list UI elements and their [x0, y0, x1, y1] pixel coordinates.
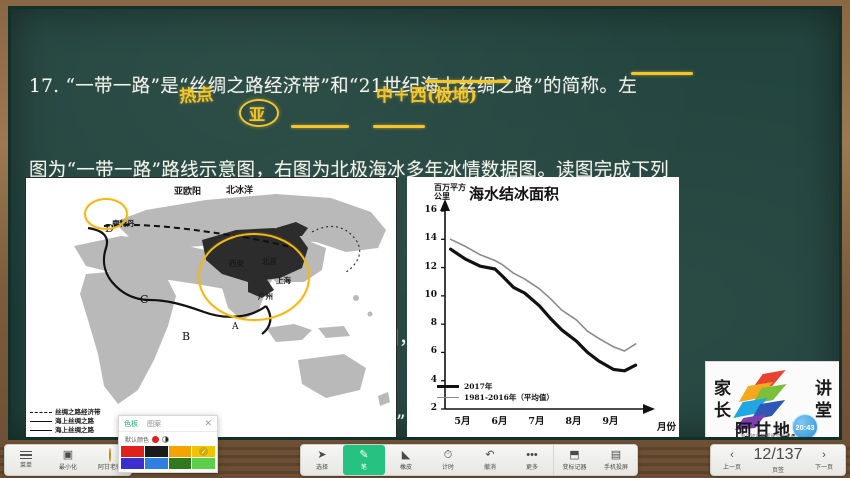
- brand-logo: 家 长 讲 堂 阿甘地理 专注初中地理课堂与素养提升 20:43: [705, 361, 841, 440]
- toolbar-item-label: 笔: [361, 462, 367, 471]
- blackboard: 17. “一带一路”是“丝绸之路经济带”和“21世纪海上丝绸之路”的简称。左 图…: [8, 6, 842, 440]
- color-swatch[interactable]: [121, 446, 144, 457]
- close-icon[interactable]: ✕: [204, 418, 212, 429]
- toolbar-item-eraser[interactable]: ◣橡皮: [385, 445, 427, 475]
- color-dot-red-icon[interactable]: [152, 436, 159, 443]
- thin-line-icon: [437, 397, 459, 398]
- cast-icon: ▤: [611, 450, 621, 461]
- color-dot-half-icon[interactable]: [162, 436, 169, 443]
- map-label-arctic-ocean: 北冰洋: [226, 183, 253, 196]
- map-legend-item: 海上丝绸之路: [30, 417, 101, 426]
- map-legend-item: 丝绸之路经济带: [30, 408, 101, 417]
- palette-swatch-grid[interactable]: [119, 446, 217, 472]
- minimize-icon: ▣: [63, 450, 73, 461]
- chart-legend-item: 1981-2016年（平均值）: [437, 392, 554, 403]
- menu-icon: [20, 451, 32, 460]
- pen-icon: ✎: [359, 450, 368, 461]
- prev-page-label: 上一页: [723, 462, 741, 471]
- toolbar-item-more[interactable]: •••更多: [511, 445, 553, 475]
- dashed-line-icon: [30, 412, 52, 413]
- chart-ytick: 14: [415, 233, 437, 243]
- chart-series-line: [451, 249, 636, 371]
- solid-line-icon: [30, 430, 52, 431]
- screen-root: 17. “一带一路”是“丝绸之路经济带”和“21世纪海上丝绸之路”的简称。左 图…: [0, 0, 850, 478]
- map-legend-label: 海上丝绸之路: [55, 426, 94, 435]
- question-line-1: 17. “一带一路”是“丝绸之路经济带”和“21世纪海上丝绸之路”的简称。左: [29, 73, 829, 101]
- palette-tab-patterns[interactable]: 图案: [147, 419, 161, 429]
- logo-char-4: 堂: [815, 396, 832, 421]
- chart-ylabel: 百万平方公里: [434, 183, 468, 201]
- palette-header: 色板 图案 ✕: [119, 416, 217, 432]
- map-figure: 亚欧阳 北冰洋 鹿特丹 西安 北京 上海 广州 D C B A 丝绸之路经济带: [25, 177, 397, 439]
- page-number: 12/137: [754, 446, 803, 464]
- chart-figure: 海水结冰面积 百万平方公里 246810121416 5月6月7月8月9月 月份: [407, 177, 679, 439]
- toolbar-item-marker[interactable]: ⬒变标记器: [553, 445, 595, 475]
- map-legend-item: 海上丝绸之路: [30, 426, 101, 435]
- chart-ytick: 6: [415, 346, 437, 356]
- chart-title: 海水结冰面积: [469, 183, 559, 204]
- solid-line-icon: [30, 421, 52, 422]
- chart-plot-area: 海水结冰面积 百万平方公里 246810121416 5月6月7月8月9月 月份: [407, 177, 679, 439]
- chart-ytick: 8: [415, 318, 437, 328]
- undo-icon: ↶: [485, 450, 494, 461]
- color-swatch[interactable]: [192, 458, 215, 469]
- toolbar-item-label: 菜单: [20, 460, 32, 469]
- chevron-left-icon: ‹: [730, 450, 734, 461]
- chart-xtick: 7月: [528, 413, 544, 427]
- color-swatch[interactable]: [145, 458, 168, 469]
- palette-tab-swatches[interactable]: 色板: [124, 419, 138, 429]
- map-letter-c: C: [140, 293, 148, 306]
- cursor-icon: ➤: [317, 450, 326, 461]
- map-letter-a: A: [232, 322, 239, 332]
- color-swatch[interactable]: [169, 458, 192, 469]
- chart-ytick: 12: [415, 262, 437, 272]
- toolbar-item-label: 选择: [316, 462, 328, 471]
- eraser-icon: ◣: [402, 450, 410, 461]
- chevron-right-icon: ›: [822, 450, 826, 461]
- toolbar-item-label: 手机投屏: [604, 462, 628, 471]
- chart-series-line: [451, 239, 636, 351]
- annotation-underline-econ-circle: [373, 125, 425, 128]
- next-page-label: 下一页: [815, 462, 833, 471]
- toolbar-item-cursor[interactable]: ➤选择: [301, 445, 343, 475]
- chart-legend: 2017年 1981-2016年（平均值）: [437, 381, 554, 403]
- chart-ytick: 16: [415, 205, 437, 215]
- map-label-eurasia: 亚欧阳: [174, 184, 201, 197]
- toolbar-item-cast[interactable]: ▤手机投屏: [595, 445, 637, 475]
- more-icon: •••: [526, 450, 538, 461]
- palette-default-color-label: 默认颜色: [125, 435, 149, 444]
- color-palette-popup[interactable]: 色板 图案 ✕ 默认颜色: [118, 415, 218, 473]
- annotation-underline-data: [631, 72, 693, 75]
- drawing-toolbar[interactable]: ➤选择✎笔◣橡皮⏱计时↶撤消•••更多⬒变标记器▤手机投屏: [300, 444, 638, 476]
- page-sub-label: 页签: [772, 465, 784, 474]
- timer-icon: ⏱: [444, 450, 453, 461]
- toolbar-item-label: 计时: [442, 462, 454, 471]
- next-page-button[interactable]: › 下一页: [803, 445, 845, 475]
- toolbar-item-timer[interactable]: ⏱计时: [427, 445, 469, 475]
- map-highlight-rotterdam: [84, 198, 128, 230]
- palette-default-color-row: 默认颜色: [119, 432, 217, 446]
- chart-ytick: 10: [415, 290, 437, 300]
- toolbar-item-label: 橡皮: [400, 462, 412, 471]
- chart-xtick: 8月: [565, 413, 581, 427]
- logo-char-2: 长: [714, 396, 731, 421]
- toolbar-item-label: 最小化: [59, 462, 77, 471]
- chart-xlabel: 月份: [657, 419, 676, 433]
- chart-legend-label: 1981-2016年（平均值）: [464, 392, 554, 403]
- chart-legend-item: 2017年: [437, 381, 554, 392]
- prev-page-button[interactable]: ‹ 上一页: [711, 445, 753, 475]
- color-swatch[interactable]: [192, 446, 215, 457]
- thick-line-icon: [437, 385, 459, 388]
- map-letter-b: B: [182, 330, 190, 343]
- chart-xtick: 5月: [454, 413, 470, 427]
- marker-icon: ⬒: [569, 450, 579, 461]
- timer-badge: 20:43: [792, 414, 818, 440]
- map-legend-label: 丝绸之路经济带: [55, 408, 101, 417]
- map-legend: 丝绸之路经济带 海上丝绸之路 海上丝绸之路: [30, 408, 101, 435]
- avatar-icon: [109, 450, 111, 461]
- toolbar-item-minimize[interactable]: ▣最小化: [47, 445, 89, 475]
- pager-toolbar[interactable]: ‹ 上一页 12/137 页签 › 下一页: [710, 444, 846, 476]
- color-swatch[interactable]: [121, 458, 144, 469]
- color-swatch[interactable]: [145, 446, 168, 457]
- chart-ytick: 2: [415, 403, 437, 413]
- map-legend-label: 海上丝绸之路: [55, 417, 94, 426]
- annotation-underline-active: [291, 125, 349, 128]
- chart-xtick: 9月: [602, 413, 618, 427]
- toolbar-item-label: 更多: [526, 462, 538, 471]
- page-indicator[interactable]: 12/137 页签: [753, 445, 803, 475]
- annotation-circle: [239, 99, 279, 127]
- world-map-svg: [26, 178, 397, 439]
- chart-legend-label: 2017年: [464, 381, 492, 392]
- toolbar-item-undo[interactable]: ↶撤消: [469, 445, 511, 475]
- toolbar-item-pen[interactable]: ✎笔: [343, 445, 385, 475]
- toolbar-item-label: 撤消: [484, 462, 496, 471]
- toolbar-item-menu[interactable]: 菜单: [5, 445, 47, 475]
- toolbar-item-label: 变标记器: [562, 462, 586, 471]
- annotation-overline: [425, 80, 509, 83]
- chart-ytick: 4: [415, 375, 437, 385]
- chart-xtick: 6月: [491, 413, 507, 427]
- map-highlight-china: [198, 233, 310, 321]
- left-toolbar[interactable]: 菜单▣最小化阿甘老师: [4, 444, 132, 476]
- color-swatch[interactable]: [169, 446, 192, 457]
